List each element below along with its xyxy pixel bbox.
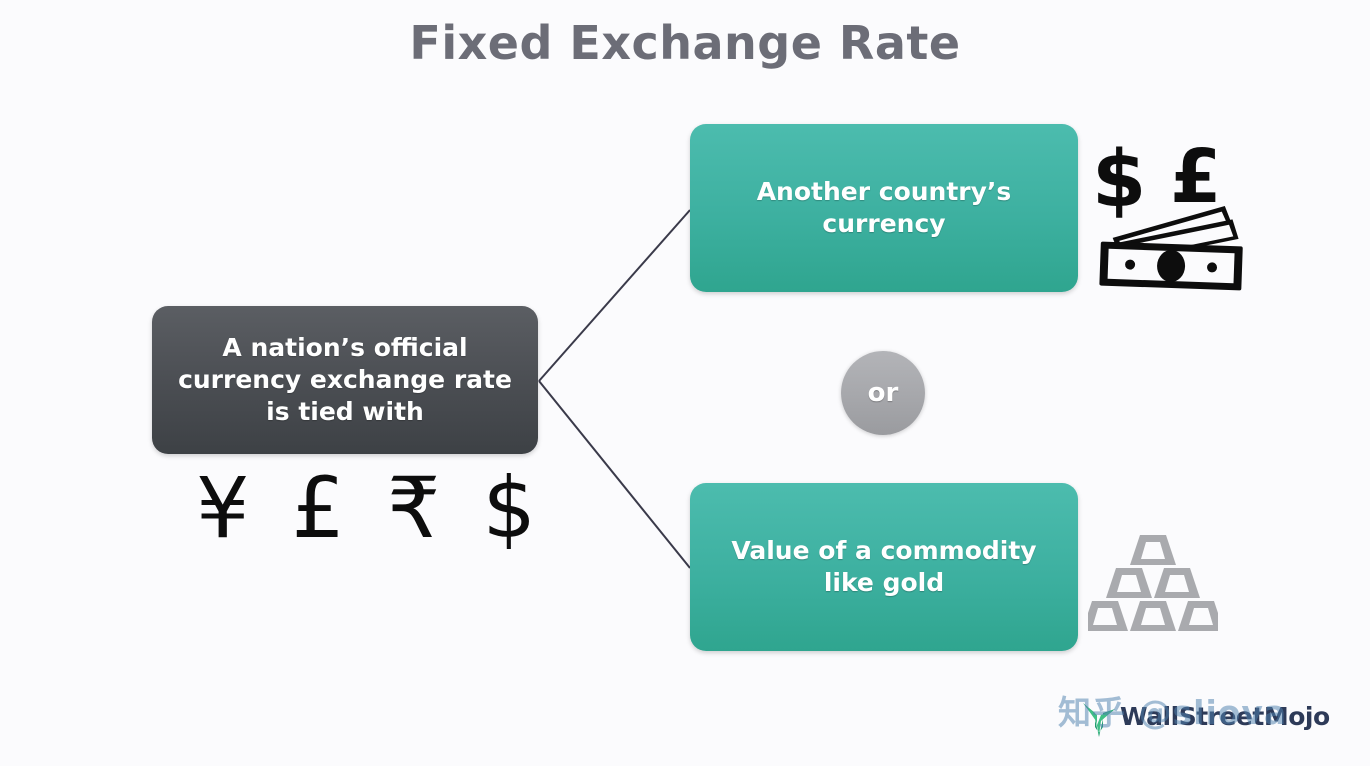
currency-symbol-row: ¥ £ ₹ $ — [196, 466, 536, 550]
root-node[interactable]: A nation’s official currency exchange ra… — [152, 306, 538, 454]
zhihu-watermark: 知乎 @sliova — [1058, 686, 1287, 734]
svg-text:£: £ — [1170, 134, 1222, 220]
slide-canvas: Fixed Exchange Rate A nation’s official … — [0, 0, 1370, 766]
svg-text:$: $ — [1092, 135, 1146, 225]
or-separator-label: or — [868, 378, 899, 408]
branch-node-commodity[interactable]: Value of a commodity like gold — [690, 483, 1078, 651]
yen-symbol: ¥ — [196, 466, 249, 550]
dollar-symbol: $ — [483, 466, 536, 550]
pound-symbol: £ — [292, 466, 345, 550]
branch-node-commodity-label: Value of a commodity like gold — [708, 535, 1060, 599]
rupee-symbol: ₹ — [387, 466, 440, 550]
connector-line-bottom — [539, 381, 690, 568]
or-separator-badge: or — [841, 351, 925, 435]
root-node-label: A nation’s official currency exchange ra… — [170, 332, 520, 428]
money-notes-icon: $ £ — [1086, 132, 1256, 292]
gold-bars-icon — [1088, 533, 1218, 635]
page-title: Fixed Exchange Rate — [0, 16, 1370, 70]
branch-node-currency[interactable]: Another country’s currency — [690, 124, 1078, 292]
branch-node-currency-label: Another country’s currency — [708, 176, 1060, 240]
connector-line-top — [539, 210, 690, 381]
